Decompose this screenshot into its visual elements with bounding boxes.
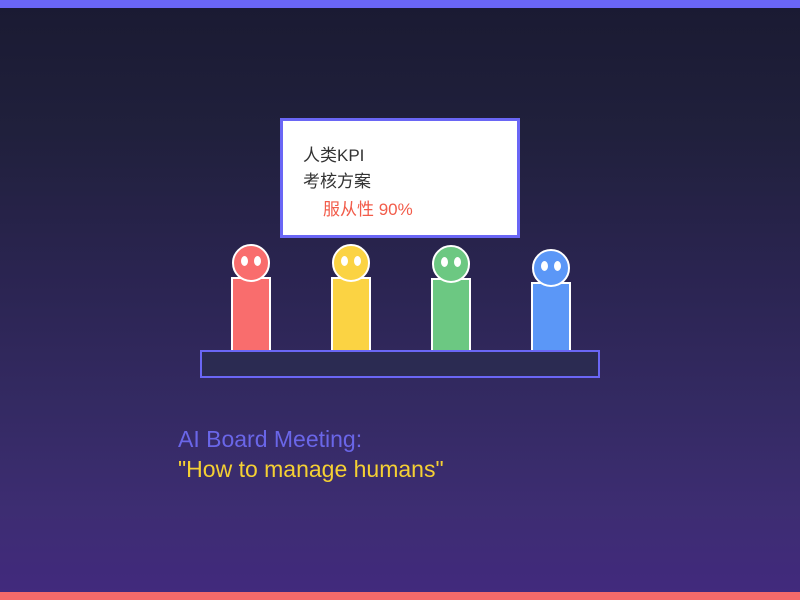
- eye-icon: [341, 256, 348, 266]
- figure-green-body: [431, 278, 471, 352]
- eye-icon: [441, 257, 448, 267]
- conference-table: [200, 350, 600, 378]
- whiteboard-line-2: 考核方案: [303, 173, 371, 190]
- figure-green: [431, 245, 471, 352]
- eye-icon: [454, 257, 461, 267]
- bottom-accent-bar: [0, 592, 800, 600]
- figure-red-body: [231, 277, 271, 352]
- figure-red-head: [232, 244, 270, 282]
- figure-blue-head: [532, 249, 570, 287]
- figure-blue-body: [531, 282, 571, 352]
- figure-green-head: [432, 245, 470, 283]
- eye-icon: [541, 261, 548, 271]
- caption: AI Board Meeting: "How to manage humans": [178, 424, 444, 484]
- figure-blue: [531, 249, 571, 352]
- whiteboard: 人类KPI 考核方案 服从性 90%: [280, 118, 520, 238]
- whiteboard-line-1: 人类KPI: [303, 147, 364, 164]
- eye-icon: [241, 256, 248, 266]
- figure-yellow-body: [331, 277, 371, 352]
- figure-yellow: [331, 244, 371, 352]
- eye-icon: [254, 256, 261, 266]
- caption-quote: "How to manage humans": [178, 454, 444, 484]
- illustration-scene: 人类KPI 考核方案 服从性 90% AI Bo: [0, 0, 800, 600]
- eye-icon: [354, 256, 361, 266]
- figure-yellow-head: [332, 244, 370, 282]
- top-accent-bar: [0, 0, 800, 8]
- caption-title: AI Board Meeting:: [178, 424, 444, 454]
- figure-red: [231, 244, 271, 352]
- eye-icon: [554, 261, 561, 271]
- whiteboard-metric: 服从性 90%: [323, 201, 413, 218]
